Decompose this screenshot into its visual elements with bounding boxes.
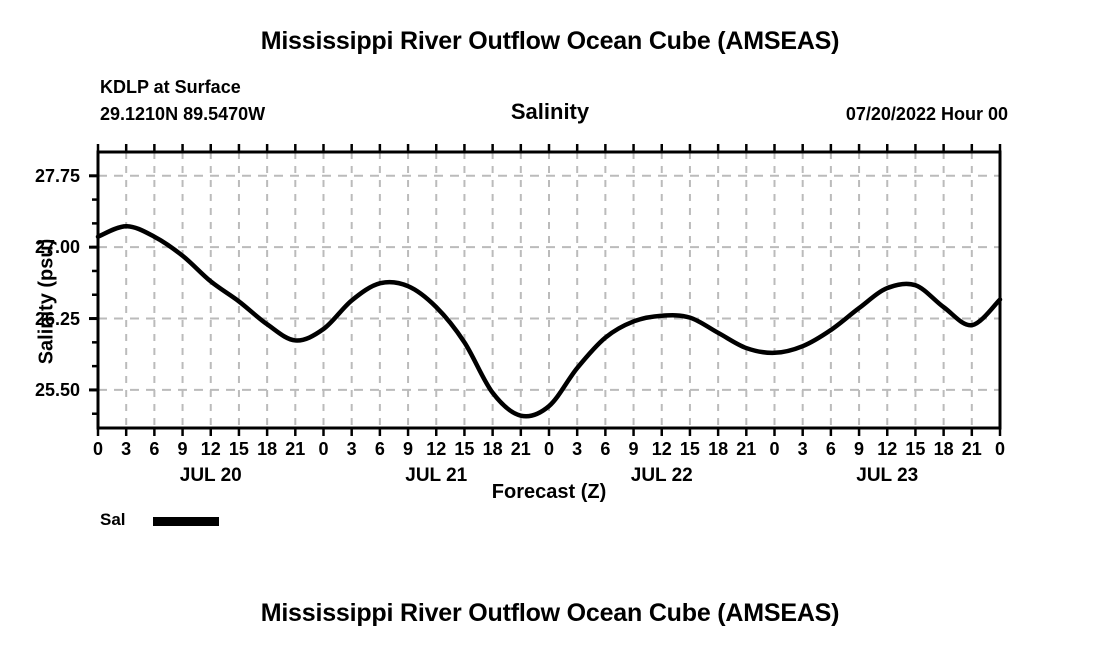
legend-line-swatch [153,517,219,526]
plot-area [0,0,1100,650]
day-label: JUL 23 [817,466,957,485]
chart-footer-title: Mississippi River Outflow Ocean Cube (AM… [0,599,1100,628]
y-tick-label: 26.25 [0,310,80,328]
chart-figure: Mississippi River Outflow Ocean Cube (AM… [0,0,1100,650]
y-tick-label: 27.00 [0,238,80,256]
gridlines [98,152,1000,428]
day-label: JUL 21 [366,466,506,485]
plot-frame [98,152,1000,428]
y-tick-label: 25.50 [0,381,80,399]
day-label: JUL 22 [592,466,732,485]
y-tick-label: 27.75 [0,167,80,185]
x-tick-label: 0 [983,440,1017,458]
day-label: JUL 20 [141,466,281,485]
legend-label: Sal [100,510,126,530]
